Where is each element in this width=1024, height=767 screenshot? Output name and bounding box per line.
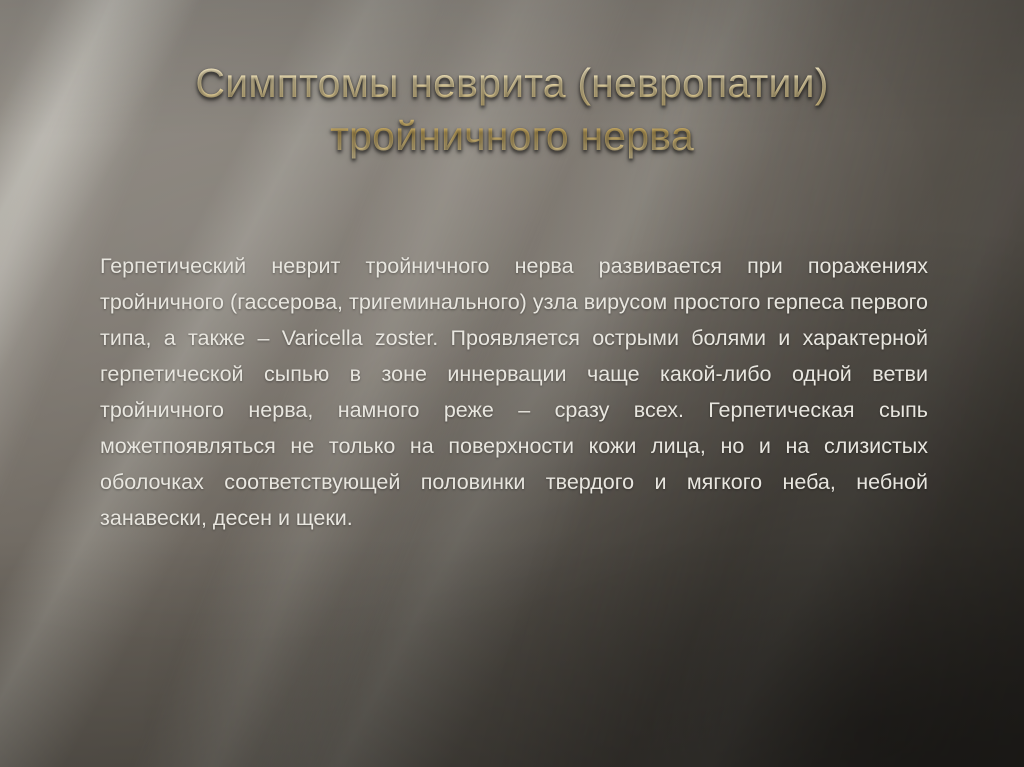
- body-paragraph: Герпетический неврит тройничного нерва р…: [100, 248, 928, 536]
- slide-content: Симптомы неврита (невропатии) тройничног…: [0, 0, 1024, 767]
- slide-body-text: Герпетический неврит тройничного нерва р…: [100, 248, 928, 536]
- slide-title: Симптомы неврита (невропатии) тройничног…: [96, 57, 928, 162]
- presentation-slide: Симптомы неврита (невропатии) тройничног…: [0, 0, 1024, 767]
